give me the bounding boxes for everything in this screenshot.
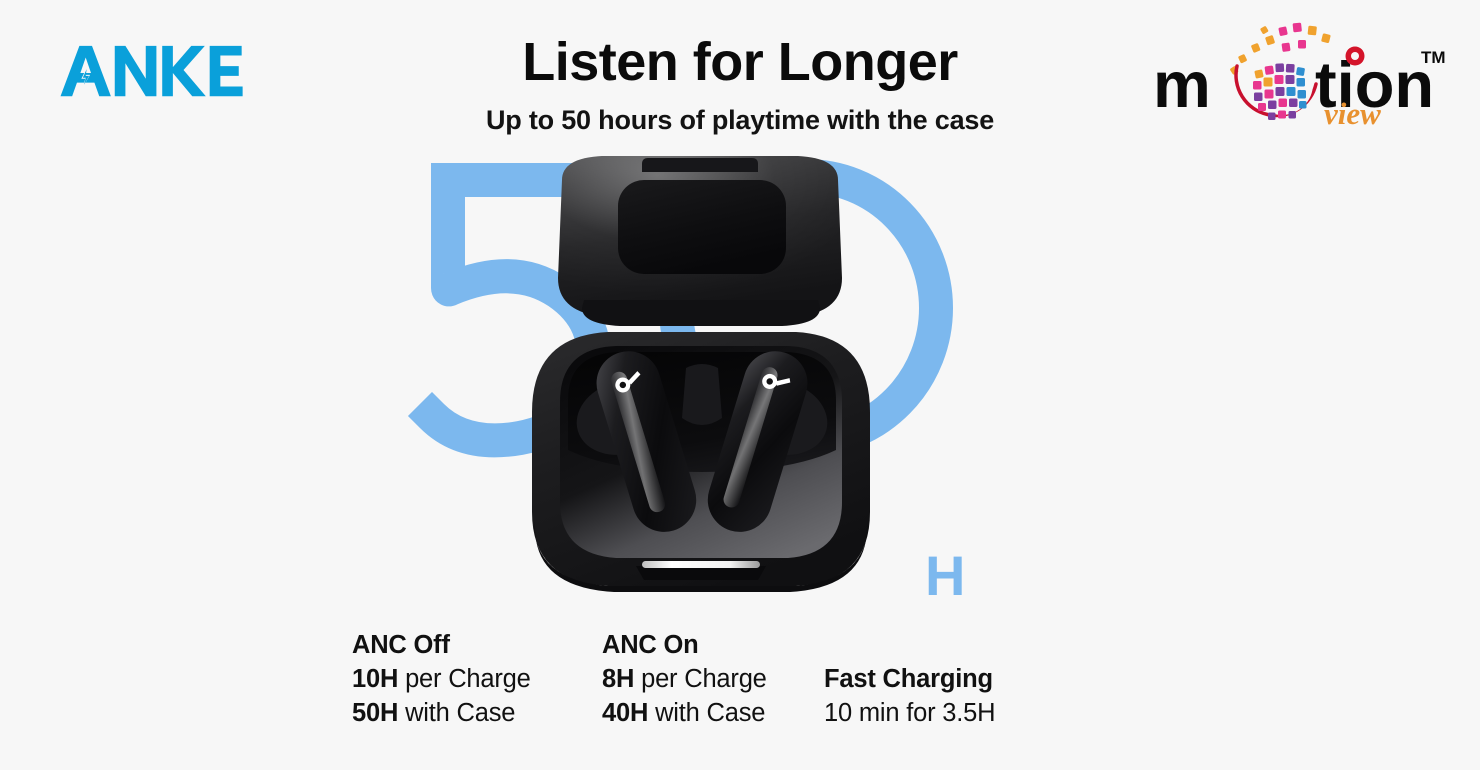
spec-label: with Case bbox=[398, 699, 515, 727]
spec-label: per Charge bbox=[398, 665, 530, 693]
spec-value: 40H bbox=[602, 699, 648, 727]
motionview-logo-icon: m tion TM view bbox=[1148, 18, 1458, 130]
spec-column-anc-on: ANC On 8H per Charge 40H with Case bbox=[602, 628, 767, 730]
spec-label: per Charge bbox=[634, 665, 766, 693]
spec-value: 50H bbox=[352, 699, 398, 727]
spec-line: 50H with Case bbox=[352, 696, 531, 730]
spec-value: 8H bbox=[602, 665, 634, 693]
spec-line: 8H per Charge bbox=[602, 662, 767, 696]
spec-line: 40H with Case bbox=[602, 696, 767, 730]
spec-title: ANC On bbox=[602, 628, 767, 662]
spec-title: ANC Off bbox=[352, 628, 531, 662]
spec-row: ANC Off 10H per Charge 50H with Case ANC… bbox=[352, 628, 1112, 738]
spec-title: Fast Charging bbox=[824, 662, 995, 696]
spec-label: 10 min for 3.5H bbox=[824, 699, 995, 727]
motion-logo-script: view bbox=[1324, 96, 1381, 130]
watermark-unit: H bbox=[925, 548, 965, 604]
earbuds-case-icon bbox=[490, 150, 910, 610]
case-lid bbox=[558, 156, 842, 326]
trademark-mark: TM bbox=[1421, 48, 1446, 67]
spec-label: with Case bbox=[648, 699, 765, 727]
hero-product-area: H bbox=[0, 150, 1480, 610]
motion-logo-prefix: m bbox=[1153, 48, 1211, 121]
spec-line: 10 min for 3.5H bbox=[824, 696, 995, 730]
motionview-logo: m tion TM view bbox=[1148, 18, 1458, 130]
product-image-earbuds-case bbox=[490, 150, 910, 610]
spec-column-anc-off: ANC Off 10H per Charge 50H with Case bbox=[352, 628, 531, 730]
spec-line: 10H per Charge bbox=[352, 662, 531, 696]
led-indicator bbox=[636, 561, 766, 580]
spec-column-fast-charging: Fast Charging 10 min for 3.5H bbox=[824, 628, 995, 730]
globe-icon bbox=[1251, 53, 1313, 120]
case-base bbox=[532, 332, 870, 592]
spec-value: 10H bbox=[352, 665, 398, 693]
